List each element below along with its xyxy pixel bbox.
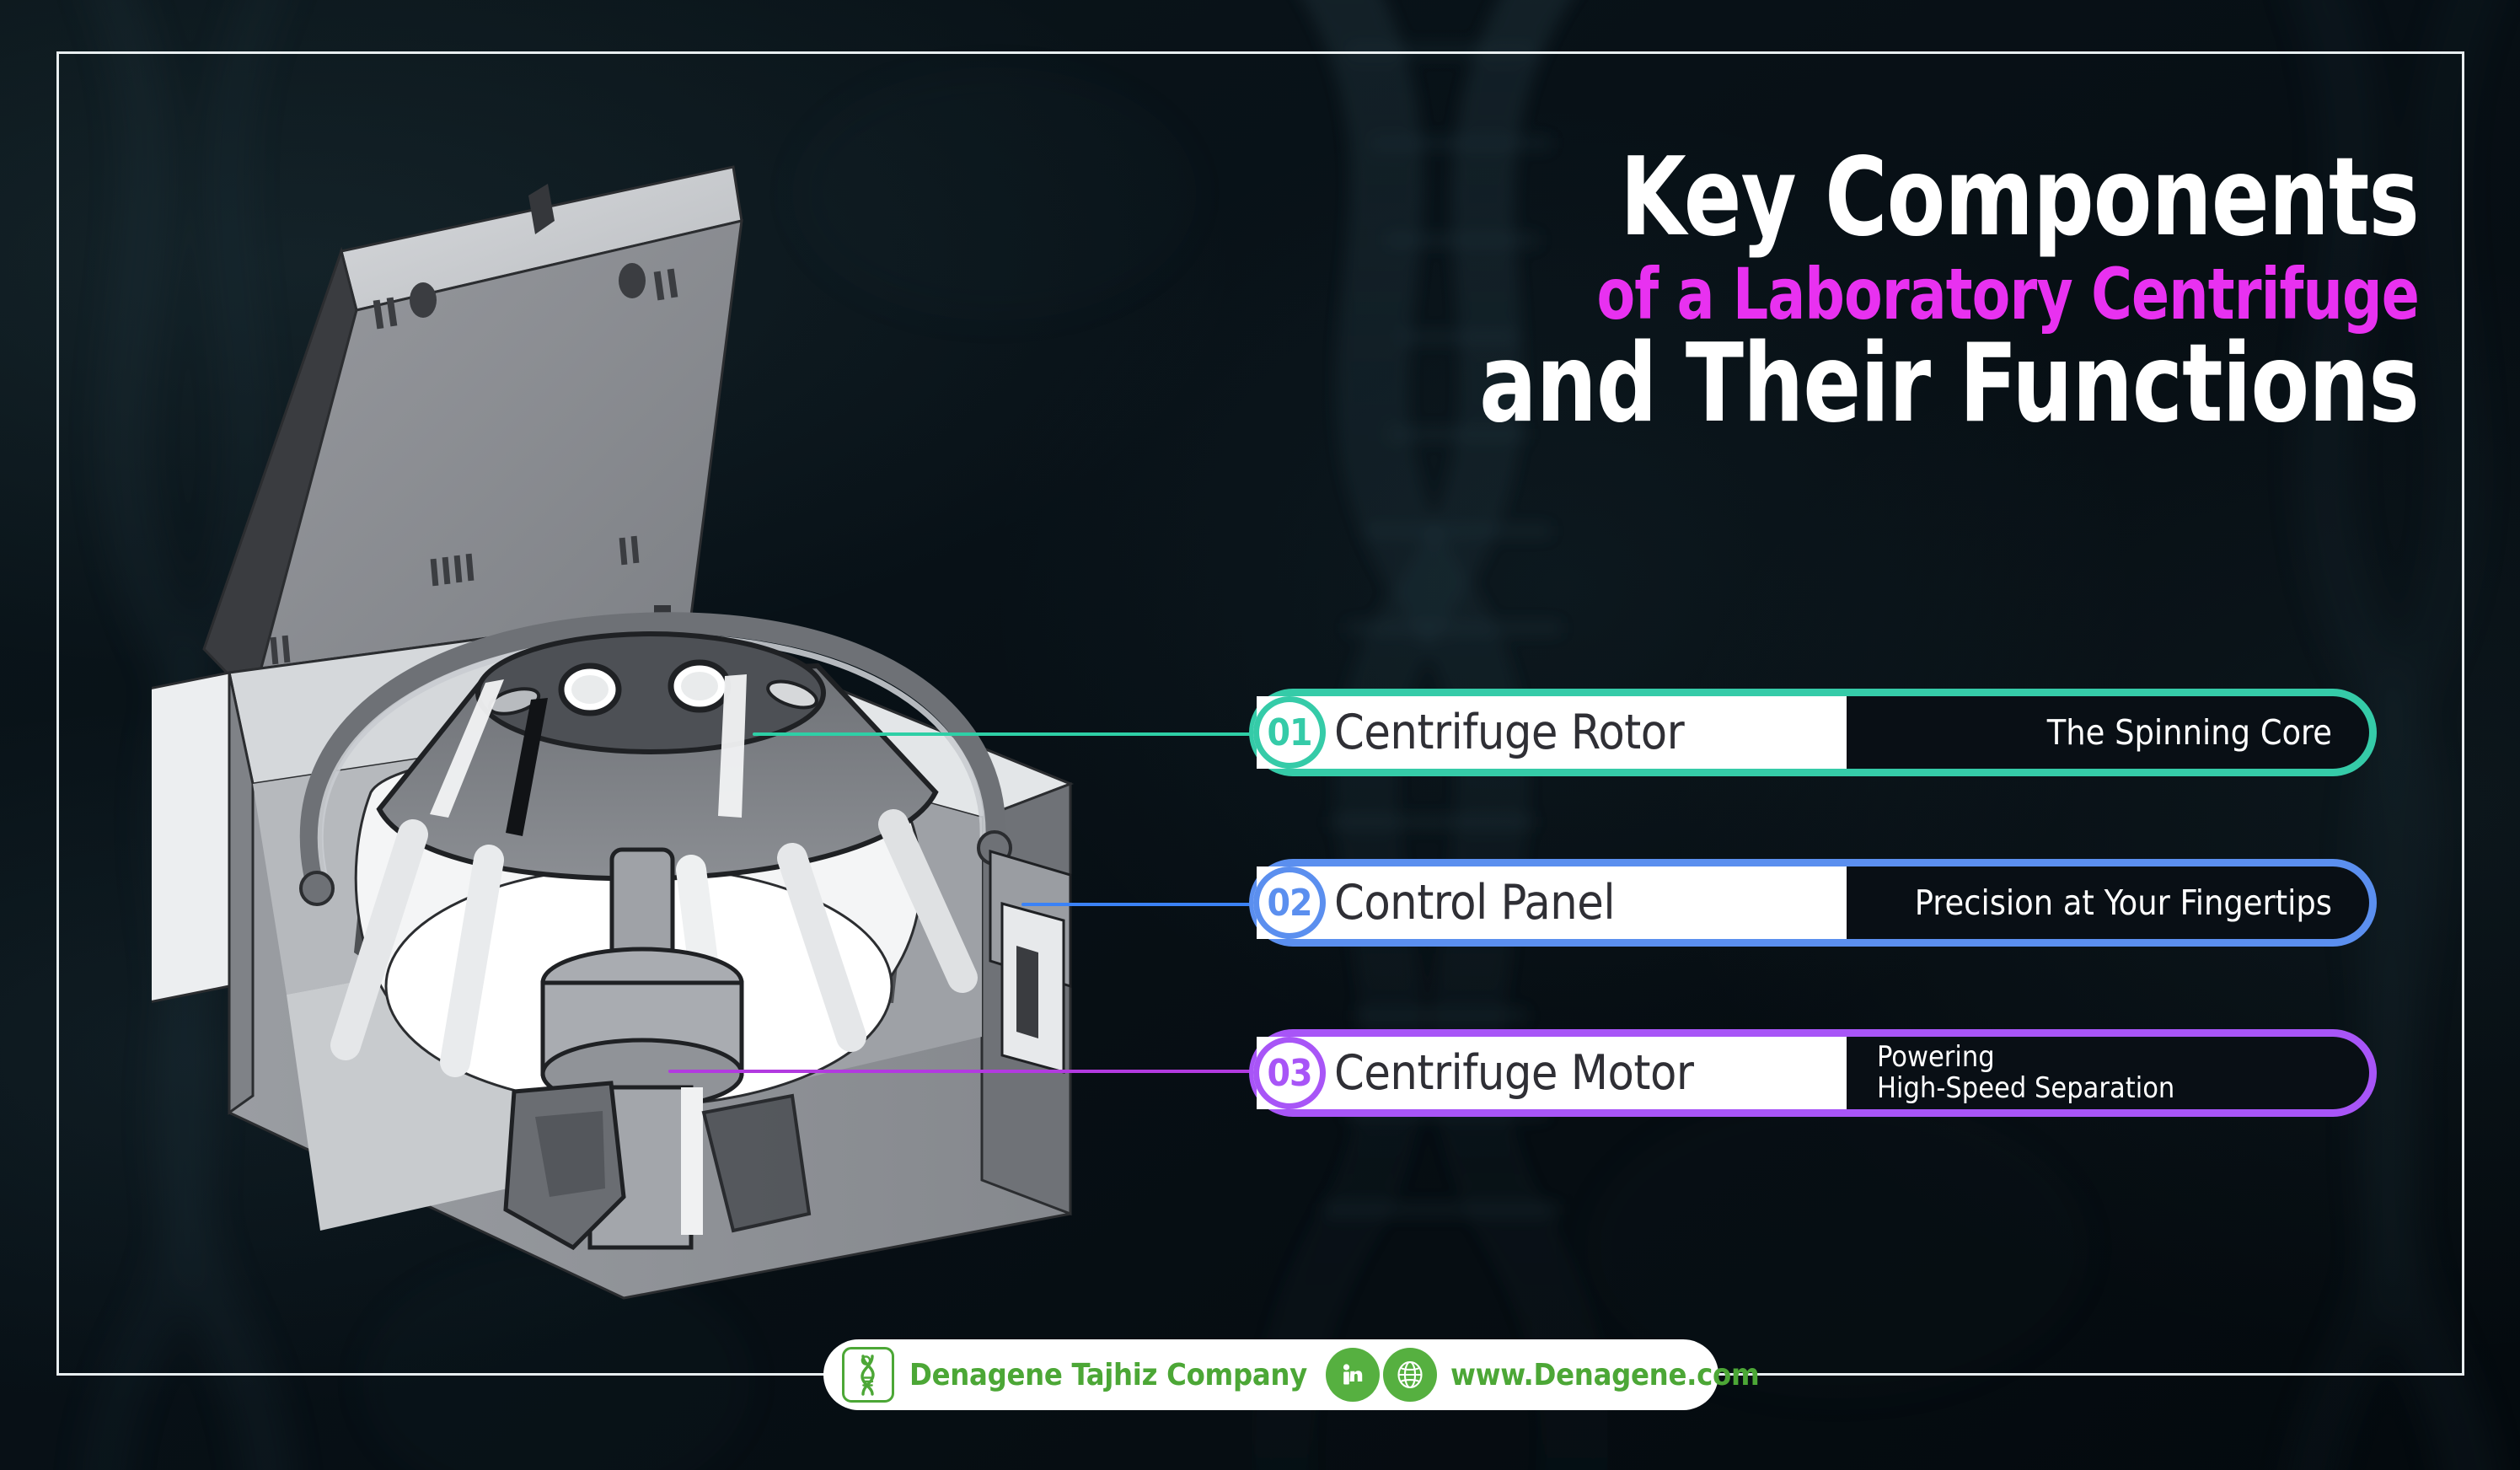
title-line-2: of a Laboratory Centrifuge	[1381, 261, 2419, 327]
connector-line-rotor	[753, 732, 1275, 736]
component-sublabel-02-line-1: Precision at Your Fingertips	[1915, 884, 2332, 921]
page-title: Key Components of a Laboratory Centrifug…	[1239, 148, 2419, 434]
component-label-pane-03: Centrifuge Motor	[1257, 1037, 1847, 1109]
component-badge-03: 03	[1253, 1037, 1326, 1109]
component-badge-01: 01	[1253, 696, 1326, 769]
social-links-group	[1326, 1348, 1437, 1402]
component-row-01[interactable]: Centrifuge Rotor The Spinning Core	[1249, 689, 2377, 776]
component-sublabel-03-line-1: Powering	[1877, 1042, 2346, 1073]
connector-line-motor	[668, 1070, 1275, 1073]
component-sublabel-pane-02: Precision at Your Fingertips	[1847, 866, 2369, 939]
globe-icon[interactable]	[1383, 1348, 1437, 1402]
component-row-03[interactable]: Centrifuge Motor Powering High-Speed Sep…	[1249, 1029, 2377, 1117]
dna-helix-icon	[842, 1347, 894, 1403]
component-label-03: Centrifuge Motor	[1334, 1045, 1693, 1101]
component-label-pane-01: Centrifuge Rotor	[1257, 696, 1847, 769]
centrifuge-motor	[506, 1083, 809, 1247]
title-line-3: and Their Functions	[1381, 334, 2419, 434]
footer-brand-bar: Denagene Tajhiz Company www.Denagene.com	[823, 1339, 1718, 1410]
rear-panel	[152, 673, 229, 1005]
linkedin-icon[interactable]	[1326, 1348, 1380, 1402]
component-label-01: Centrifuge Rotor	[1334, 705, 1684, 760]
component-badge-02: 02	[1253, 866, 1326, 939]
component-sublabel-01-line-1: The Spinning Core	[2047, 714, 2332, 751]
footer-rule-left	[59, 1373, 834, 1376]
component-label-pane-02: Control Panel	[1257, 866, 1847, 939]
control-panel	[990, 851, 1070, 1072]
website-url[interactable]: www.Denagene.com	[1450, 1358, 1759, 1392]
component-row-02[interactable]: Control Panel Precision at Your Fingerti…	[1249, 859, 2377, 947]
component-label-02: Control Panel	[1334, 875, 1615, 931]
component-sublabel-pane-01: The Spinning Core	[1847, 696, 2369, 769]
component-sublabel-03-line-2: High-Speed Separation	[1877, 1073, 2346, 1104]
title-line-1: Key Components	[1381, 148, 2419, 248]
connector-line-control-panel	[1021, 903, 1274, 906]
component-sublabel-pane-03: Powering High-Speed Separation	[1847, 1037, 2369, 1109]
company-name: Denagene Tajhiz Company	[909, 1358, 1307, 1392]
footer-rule-right	[1686, 1373, 2461, 1376]
